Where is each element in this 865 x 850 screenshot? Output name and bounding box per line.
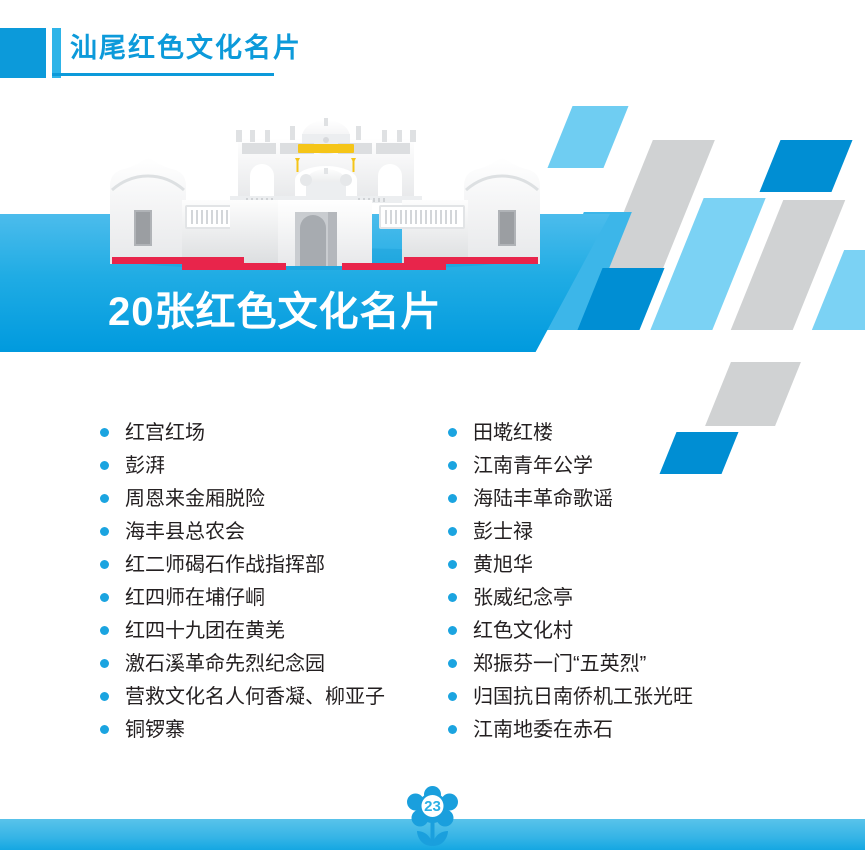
list-item-label: 江南青年公学 bbox=[473, 451, 593, 481]
list-item-label: 海陆丰革命歌谣 bbox=[473, 484, 613, 514]
list-item[interactable]: 黄旭华 bbox=[448, 550, 748, 583]
list-item[interactable]: 红宫红场 bbox=[100, 418, 430, 451]
list-item[interactable]: 郑振芬一门“五英烈” bbox=[448, 649, 748, 682]
list-item[interactable]: 田墘红楼 bbox=[448, 418, 748, 451]
list-item-label: 海丰县总农会 bbox=[125, 517, 245, 547]
bullet-icon bbox=[100, 725, 109, 734]
list-item-label: 田墘红楼 bbox=[473, 418, 553, 448]
list-item-label: 郑振芬一门“五英烈” bbox=[473, 649, 646, 679]
list-item[interactable]: 海丰县总农会 bbox=[100, 517, 430, 550]
list-item[interactable]: 海陆丰革命歌谣 bbox=[448, 484, 748, 517]
bullet-icon bbox=[448, 692, 457, 701]
list-item[interactable]: 铜锣寨 bbox=[100, 715, 430, 748]
header-accent-block bbox=[0, 28, 46, 78]
list-item-label: 红四十九团在黄羌 bbox=[125, 616, 285, 646]
bullet-icon bbox=[100, 593, 109, 602]
list-item-label: 彭湃 bbox=[125, 451, 165, 481]
list-item-label: 张威纪念亭 bbox=[473, 583, 573, 613]
list-item[interactable]: 红色文化村 bbox=[448, 616, 748, 649]
list-item-label: 归国抗日南侨机工张光旺 bbox=[473, 682, 693, 712]
list-item-label: 铜锣寨 bbox=[125, 715, 185, 745]
bullet-icon bbox=[100, 494, 109, 503]
red-palace-illustration bbox=[90, 100, 560, 272]
list-item[interactable]: 红二师碣石作战指挥部 bbox=[100, 550, 430, 583]
page-title: 汕尾红色文化名片 bbox=[70, 29, 302, 67]
banner-title: 20张红色文化名片 bbox=[108, 286, 442, 338]
bullet-icon bbox=[100, 560, 109, 569]
parallelogram-grey-3 bbox=[705, 362, 801, 426]
page-number-badge: 23 bbox=[404, 786, 461, 850]
list-item-label: 彭士禄 bbox=[473, 517, 533, 547]
list-item[interactable]: 彭湃 bbox=[100, 451, 430, 484]
bullet-icon bbox=[448, 593, 457, 602]
bullet-icon bbox=[100, 461, 109, 470]
page-number: 23 bbox=[404, 786, 461, 826]
list-item[interactable]: 周恩来金厢脱险 bbox=[100, 484, 430, 517]
list-item-label: 营救文化名人何香凝、柳亚子 bbox=[125, 682, 385, 712]
list-item[interactable]: 江南青年公学 bbox=[448, 451, 748, 484]
list-item-label: 红二师碣石作战指挥部 bbox=[125, 550, 325, 580]
list-item[interactable]: 归国抗日南侨机工张光旺 bbox=[448, 682, 748, 715]
list-item[interactable]: 江南地委在赤石 bbox=[448, 715, 748, 748]
culture-list-right-column: 田墘红楼江南青年公学海陆丰革命歌谣彭士禄黄旭华张威纪念亭红色文化村郑振芬一门“五… bbox=[448, 418, 748, 748]
header-accent-bar bbox=[52, 28, 61, 78]
bullet-icon bbox=[100, 692, 109, 701]
bullet-icon bbox=[448, 527, 457, 536]
bullet-icon bbox=[448, 659, 457, 668]
header-underline bbox=[52, 73, 274, 76]
bullet-icon bbox=[448, 428, 457, 437]
list-item-label: 红四师在埔仔峒 bbox=[125, 583, 265, 613]
bullet-icon bbox=[448, 461, 457, 470]
bullet-icon bbox=[448, 494, 457, 503]
list-item[interactable]: 激石溪革命先烈纪念园 bbox=[100, 649, 430, 682]
list-item-label: 周恩来金厢脱险 bbox=[125, 484, 265, 514]
bullet-icon bbox=[448, 626, 457, 635]
list-item-label: 红色文化村 bbox=[473, 616, 573, 646]
list-item[interactable]: 彭士禄 bbox=[448, 517, 748, 550]
bullet-icon bbox=[100, 659, 109, 668]
list-item[interactable]: 营救文化名人何香凝、柳亚子 bbox=[100, 682, 430, 715]
bullet-icon bbox=[100, 626, 109, 635]
list-item[interactable]: 张威纪念亭 bbox=[448, 583, 748, 616]
bullet-icon bbox=[448, 560, 457, 569]
list-item[interactable]: 红四师在埔仔峒 bbox=[100, 583, 430, 616]
list-item-label: 激石溪革命先烈纪念园 bbox=[125, 649, 325, 679]
page-root: 汕尾红色文化名片 bbox=[0, 0, 865, 850]
list-item-label: 红宫红场 bbox=[125, 418, 205, 448]
parallelogram-blue-dark-1 bbox=[759, 140, 852, 192]
list-item-label: 江南地委在赤石 bbox=[473, 715, 613, 745]
bullet-icon bbox=[100, 527, 109, 536]
bullet-icon bbox=[100, 428, 109, 437]
list-item-label: 黄旭华 bbox=[473, 550, 533, 580]
bullet-icon bbox=[448, 725, 457, 734]
list-item[interactable]: 红四十九团在黄羌 bbox=[100, 616, 430, 649]
culture-list-left-column: 红宫红场彭湃周恩来金厢脱险海丰县总农会红二师碣石作战指挥部红四师在埔仔峒红四十九… bbox=[100, 418, 430, 748]
